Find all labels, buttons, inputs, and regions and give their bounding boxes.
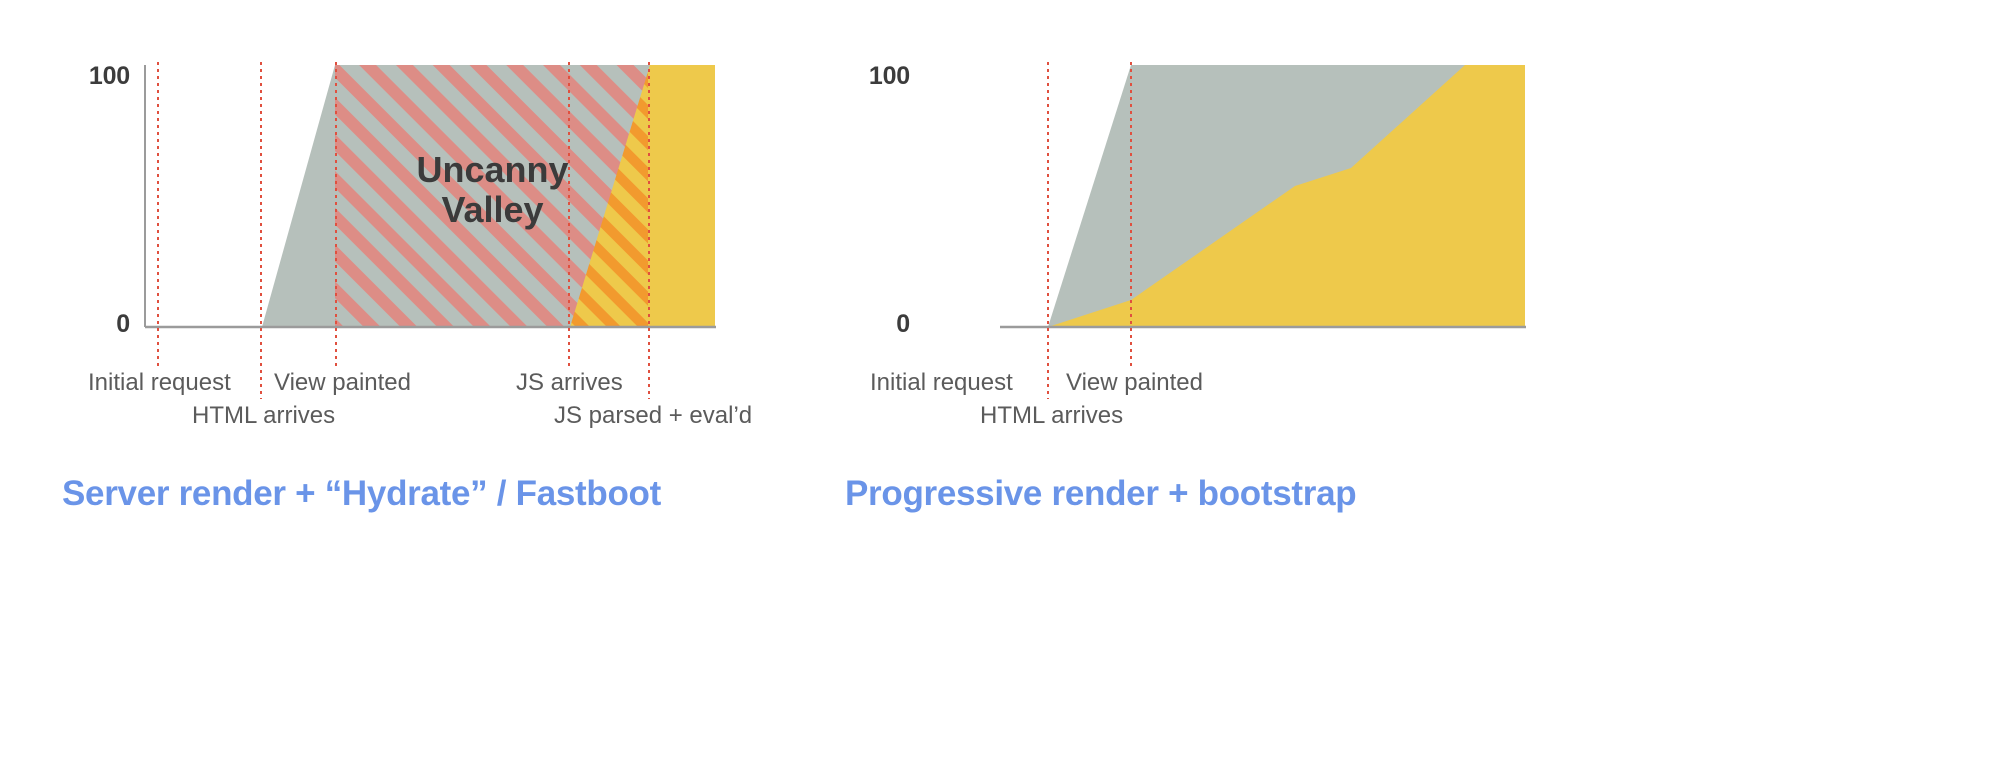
event-label-initial-request: Initial request — [870, 369, 1013, 397]
event-label-js-arrives: JS arrives — [516, 369, 623, 397]
event-label-view-painted: View painted — [274, 369, 411, 397]
y-tick-100: 100 — [850, 62, 910, 91]
event-label-html-arrives: HTML arrives — [192, 402, 335, 430]
event-label-html-arrives: HTML arrives — [980, 402, 1123, 430]
y-tick-0: 0 — [70, 310, 130, 339]
panel-title-progressive-render: Progressive render + bootstrap — [845, 474, 1356, 514]
y-tick-0: 0 — [850, 310, 910, 339]
slide-canvas: 100 0 Uncanny Valley Initial request Vie… — [0, 0, 2000, 758]
event-label-js-parsed-evald: JS parsed + eval’d — [554, 402, 752, 430]
chart-panel-server-render: 100 0 Uncanny Valley Initial request Vie… — [0, 0, 1000, 758]
event-label-initial-request: Initial request — [88, 369, 231, 397]
event-label-view-painted: View painted — [1066, 369, 1203, 397]
y-tick-100: 100 — [70, 62, 130, 91]
panel-title-server-render: Server render + “Hydrate” / Fastboot — [62, 474, 661, 514]
uncanny-valley-label: Uncanny Valley — [360, 150, 625, 231]
chart-panel-progressive-render: 100 0 Initial request View painted HTML … — [1000, 0, 2000, 758]
